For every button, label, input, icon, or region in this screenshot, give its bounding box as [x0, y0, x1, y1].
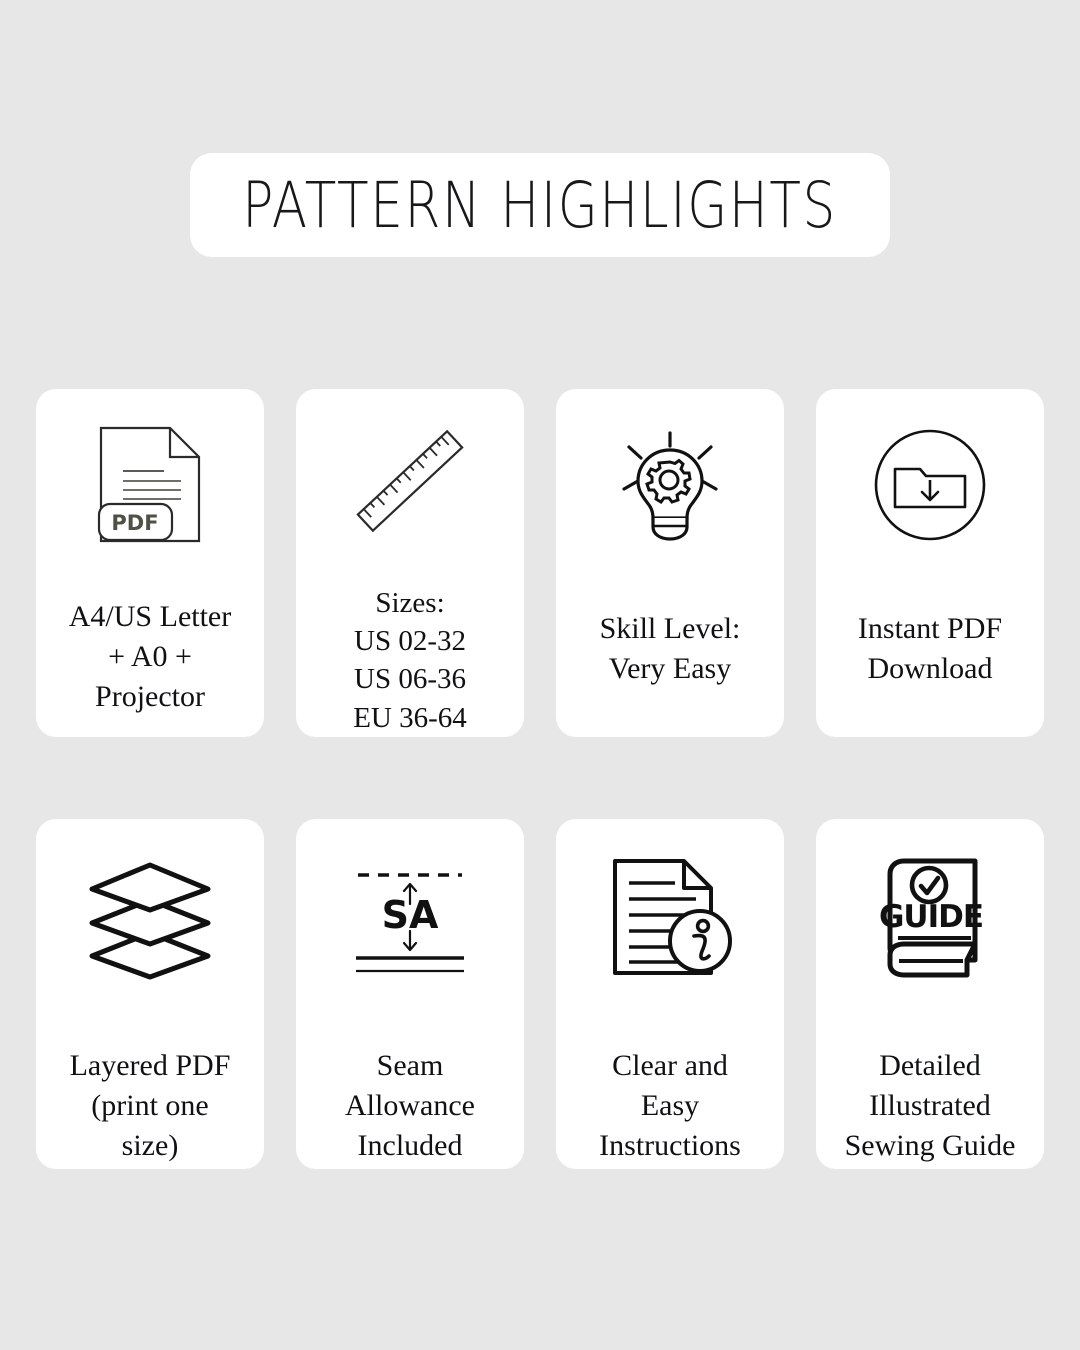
- guide-book-icon: GUIDE: [855, 845, 1005, 990]
- seam-allowance-abbrev: SA: [382, 893, 439, 937]
- highlight-card-seam-allowance[interactable]: SA Seam Allowance Included: [296, 819, 524, 1169]
- highlights-grid: PDF A4/US Letter + A0 + Projector: [36, 389, 1044, 1169]
- highlight-card-layered-pdf[interactable]: Layered PDF (print one size): [36, 819, 264, 1169]
- page-title: PATTERN HIGHLIGHTS: [243, 174, 838, 237]
- highlight-card-sewing-guide[interactable]: GUIDE Detailed Illustrated Sewing Guide: [816, 819, 1044, 1169]
- ruler-icon: [335, 415, 485, 548]
- highlight-card-instructions[interactable]: Clear and Easy Instructions: [556, 819, 784, 1169]
- lightbulb-gear-icon: [595, 415, 745, 555]
- folder-download-circle-icon: [855, 415, 1005, 555]
- page-title-card: PATTERN HIGHLIGHTS: [190, 153, 890, 257]
- highlight-card-label: Instant PDF Download: [825, 609, 1035, 689]
- highlight-card-skill-level[interactable]: Skill Level: Very Easy: [556, 389, 784, 737]
- highlight-card-label: Skill Level: Very Easy: [565, 609, 775, 689]
- layers-icon: [75, 845, 225, 990]
- highlight-card-label: Sizes: US 02-32 US 06-36 EU 36-64: [305, 584, 515, 737]
- highlight-card-label: Layered PDF (print one size): [45, 1046, 255, 1166]
- highlight-card-label: A4/US Letter + A0 + Projector: [45, 597, 255, 717]
- seam-allowance-icon: SA: [335, 845, 485, 990]
- document-info-icon: [595, 845, 745, 990]
- pdf-badge-text: PDF: [111, 511, 158, 535]
- highlight-card-label: Clear and Easy Instructions: [565, 1046, 775, 1166]
- pdf-document-icon: PDF: [75, 415, 225, 555]
- highlight-card-instant-download[interactable]: Instant PDF Download: [816, 389, 1044, 737]
- guide-badge-text: GUIDE: [879, 899, 983, 935]
- highlight-card-sizes[interactable]: Sizes: US 02-32 US 06-36 EU 36-64: [296, 389, 524, 737]
- highlight-card-paper-formats[interactable]: PDF A4/US Letter + A0 + Projector: [36, 389, 264, 737]
- highlight-card-label: Seam Allowance Included: [305, 1046, 515, 1166]
- highlight-card-label: Detailed Illustrated Sewing Guide: [825, 1046, 1035, 1166]
